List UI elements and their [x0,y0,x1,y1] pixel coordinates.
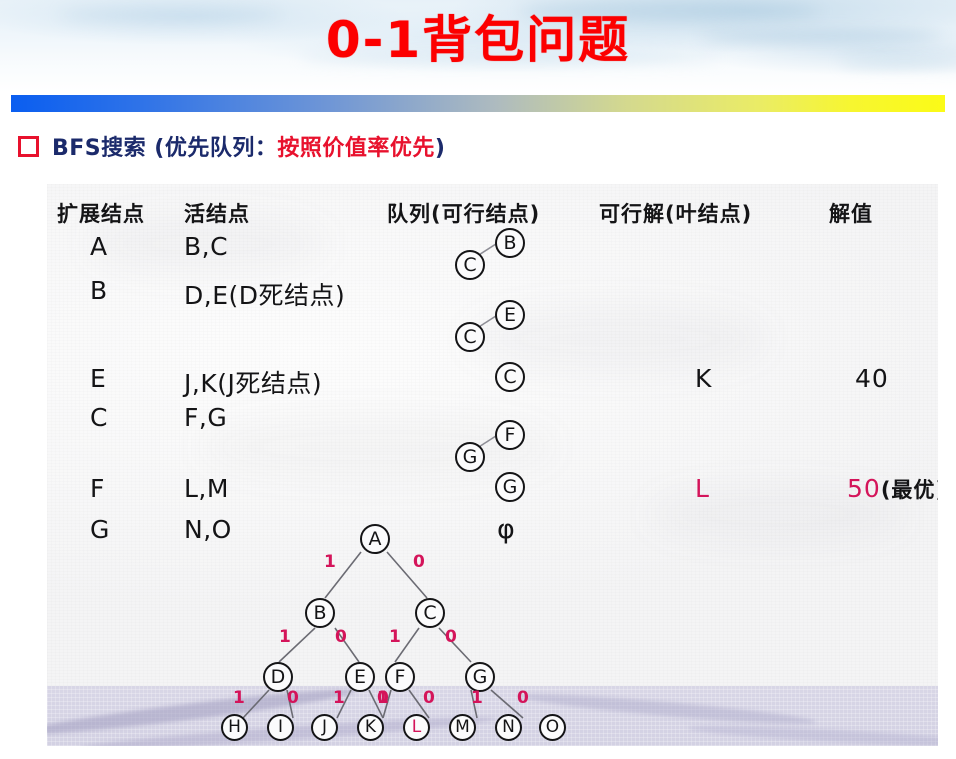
queue-node: G [495,472,525,502]
queue-node: B [495,228,525,258]
red-square-bullet-icon [18,136,39,157]
column-header-queue: 队列(可行结点) [387,198,540,228]
edge-label: 0 [517,688,529,708]
table-row: A [90,232,108,261]
tree-node-b: B [305,598,335,628]
table-row: B,C [184,232,228,261]
bullet-prefix: BFS搜索 (优先队列： [52,136,277,161]
edge-label: 1 [279,627,291,647]
column-header-live-node: 活结点 [184,198,250,228]
queue-empty-symbol: φ [497,514,515,545]
table-row: L,M [184,474,229,503]
feasible-solution-cell: K [695,364,712,393]
table-row: B [90,276,108,305]
table-row: F [90,474,105,503]
queue-node: C [455,250,485,280]
tree-node-f: F [385,662,415,692]
queue-node: E [495,300,525,330]
edge-label: 0 [287,688,299,708]
decorative-bottom-band [47,686,938,746]
column-header-feasible: 可行解(叶结点) [599,198,752,228]
value-cell: 50(最优) [847,474,938,504]
page-title: 0-1背包问题 [0,6,956,74]
edge-label: 0 [413,552,425,572]
table-row: N,O [184,515,232,544]
table-row: G [90,515,110,544]
edge-label: 0 [423,688,435,708]
queue-node: F [495,420,525,450]
tree-leaf-l: L [403,714,430,741]
value-cell: 40 [855,364,889,393]
tree-leaf-i: I [267,714,294,741]
bullet-text: BFS搜索 (优先队列：按照价值率优先) [52,130,445,162]
feasible-solution-cell: L [695,474,710,503]
edge-label: 1 [389,627,401,647]
bullet-suffix: ) [435,136,446,161]
queue-node: G [455,442,485,472]
tree-node-e: E [345,662,375,692]
value-number: 50 [847,474,881,503]
tree-leaf-o: O [539,714,566,741]
table-row: C [90,403,108,432]
tree-node-c: C [415,598,445,628]
edge-label: 0 [445,627,457,647]
edge-label: 1 [471,688,483,708]
tree-leaf-h: H [221,714,248,741]
edge-label: 0 [335,627,347,647]
bullet-line: BFS搜索 (优先队列：按照价值率优先) [18,129,918,163]
tree-leaf-k: K [357,714,384,741]
queue-node: C [495,362,525,392]
tree-leaf-j: J [311,714,338,741]
scanned-figure-panel: 扩展结点 活结点 队列(可行结点) 可行解(叶结点) 解值 A B,C B D,… [47,184,938,746]
table-row: F,G [184,403,227,432]
swoosh-icon [687,722,938,746]
header-gradient-divider [11,95,945,112]
column-header-value: 解值 [829,198,873,228]
queue-node: C [455,322,485,352]
table-row: J,K(J死结点) [184,364,322,400]
edge-label: 1 [377,688,389,708]
edge-label: 1 [333,688,345,708]
table-row: E [90,364,107,393]
bullet-emphasis: 按照价值率优先 [277,136,435,161]
edge-label: 1 [324,552,336,572]
value-note: (最优) [881,478,938,502]
edge-label: 1 [233,688,245,708]
tree-leaf-m: M [449,714,476,741]
table-row: D,E(D死结点) [184,276,345,312]
column-header-expand-node: 扩展结点 [57,198,145,228]
tree-leaf-n: N [495,714,522,741]
tree-node-a: A [360,524,390,554]
